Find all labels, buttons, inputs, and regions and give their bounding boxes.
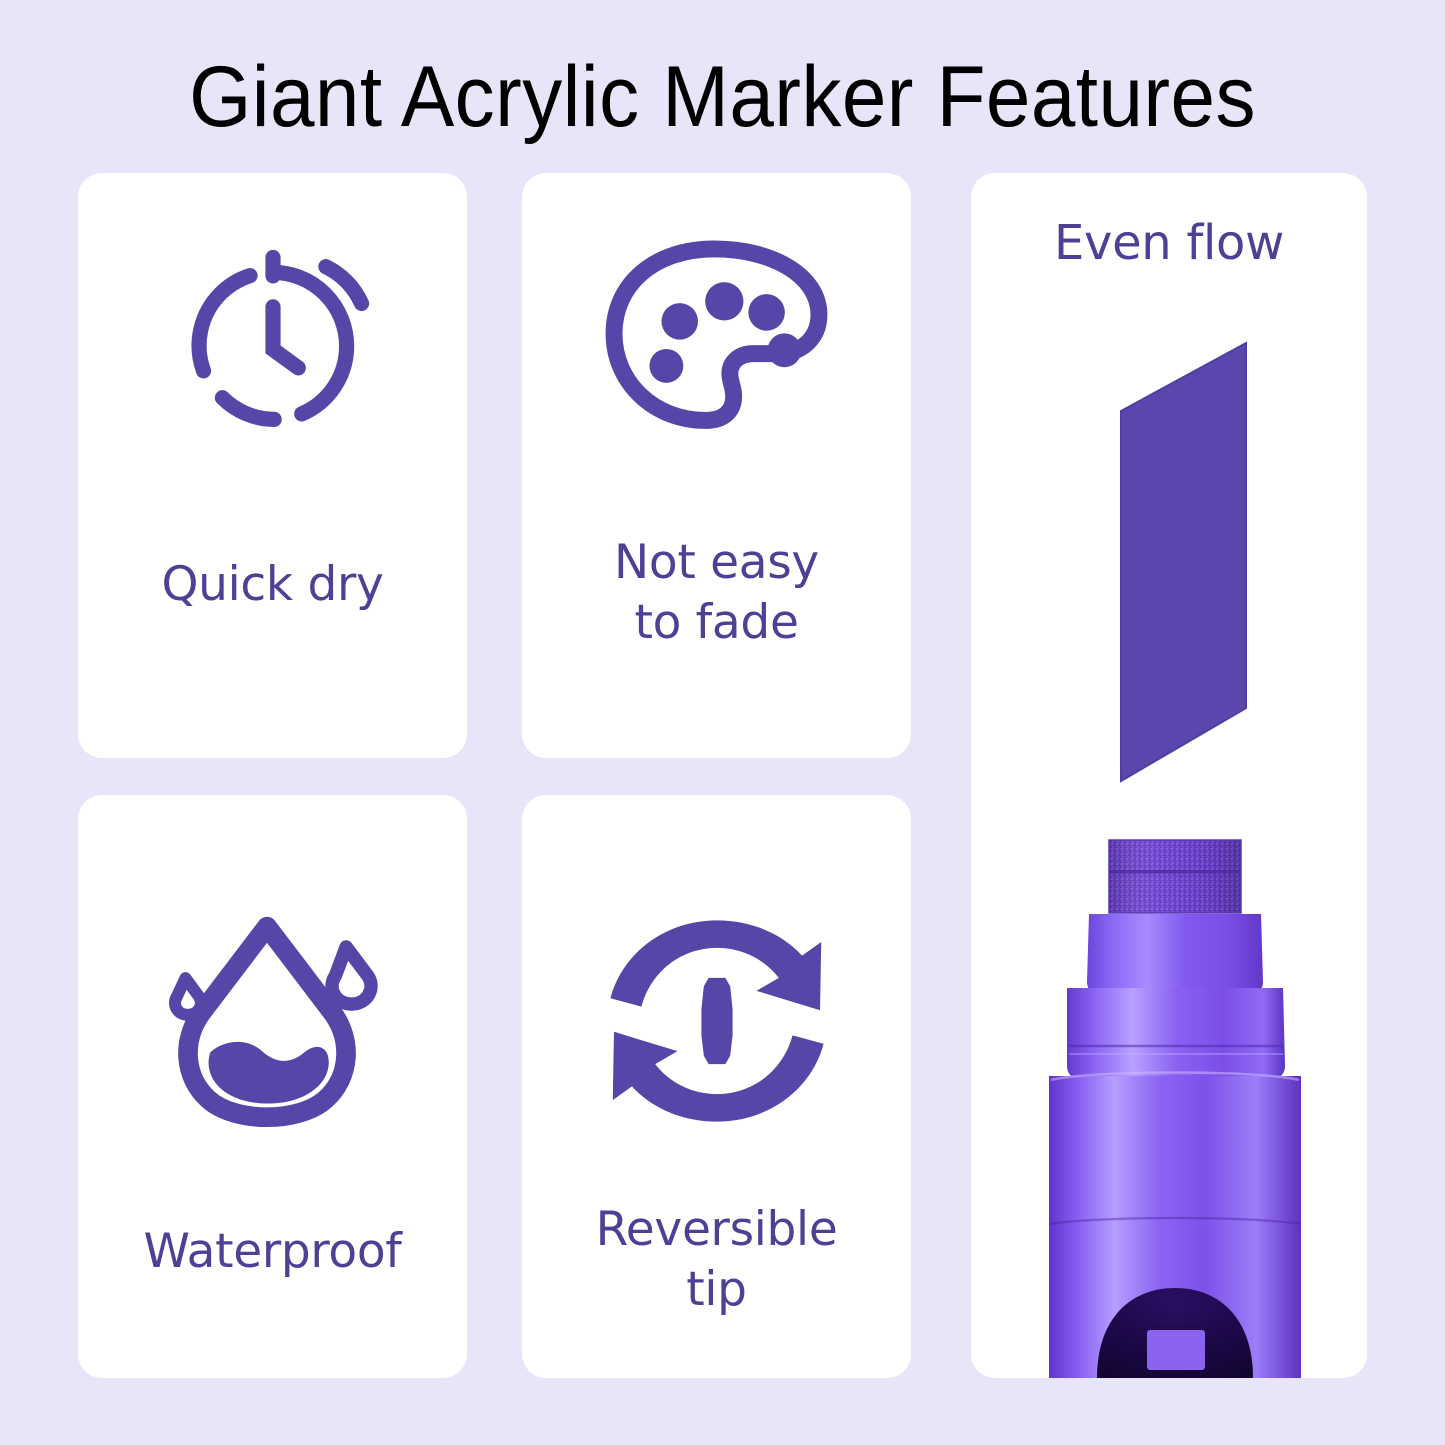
feature-label-quick-dry: Quick dry: [78, 555, 467, 615]
feature-card-reversible-tip[interactable]: Reversible tip: [522, 795, 911, 1378]
marker-pen-image: [971, 818, 1367, 1378]
feature-label-line-2: to fade: [522, 593, 911, 653]
feature-label-even-flow: Even flow: [971, 215, 1367, 271]
feature-label-line-1: Reversible: [522, 1200, 911, 1260]
page-title: Giant Acrylic Marker Features: [51, 52, 1395, 142]
feature-label-waterproof: Waterproof: [78, 1222, 467, 1282]
infographic-canvas: Giant Acrylic Marker Features Quick d: [0, 0, 1445, 1445]
rotate-arrows-icon: [522, 891, 911, 1151]
feature-label-reversible-tip: Reversible tip: [522, 1200, 911, 1320]
stopwatch-icon: [78, 221, 467, 471]
feature-label-line-2: tip: [522, 1260, 911, 1320]
ink-swatch-shape: [971, 333, 1367, 803]
feature-card-quick-dry[interactable]: Quick dry: [78, 173, 467, 758]
feature-card-not-easy-to-fade[interactable]: Not easy to fade: [522, 173, 911, 758]
feature-card-waterproof[interactable]: Waterproof: [78, 795, 467, 1378]
feature-label-not-easy-to-fade: Not easy to fade: [522, 533, 911, 653]
paint-palette-icon: [522, 215, 911, 470]
water-droplet-icon: [78, 887, 467, 1157]
feature-card-even-flow[interactable]: Even flow: [971, 173, 1367, 1378]
feature-label-line-1: Not easy: [522, 533, 911, 593]
